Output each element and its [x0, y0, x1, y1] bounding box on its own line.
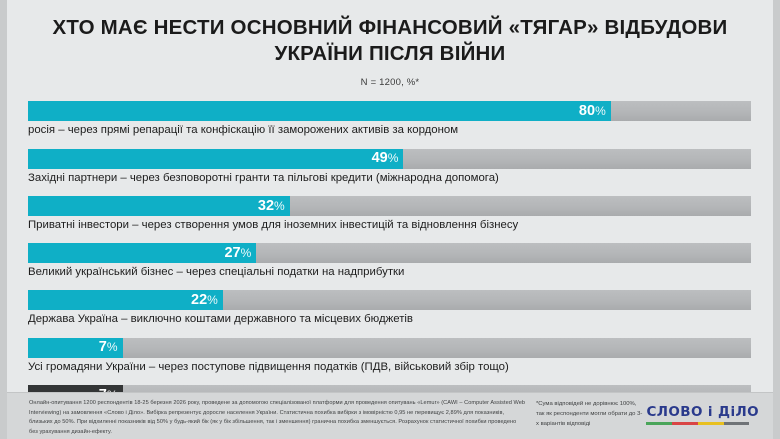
bar-value-label: 7% [99, 340, 118, 355]
percent-symbol: % [207, 293, 218, 307]
percent-symbol: % [595, 104, 606, 118]
header: ХТО МАЄ НЕСТИ ОСНОВНИЙ ФІНАНСОВИЙ «ТЯГАР… [7, 0, 773, 88]
bar-category-label: Західні партнери – через безповоротні гр… [28, 171, 759, 185]
bar-track: 27% [28, 243, 751, 263]
bar-fill[interactable]: 27% [28, 243, 256, 263]
bar-track: 80% [28, 101, 751, 121]
brand-logo[interactable]: СЛОВО і ДіЛО [646, 399, 769, 425]
bar-value-label: 27% [224, 246, 251, 261]
bar-value-label: 22% [191, 293, 218, 308]
bar-value-label: 80% [579, 104, 606, 119]
bar-value-label: 49% [372, 151, 399, 166]
bar-category-label: Держава Україна – виключно коштами держа… [28, 312, 759, 326]
bar-track: 32% [28, 196, 751, 216]
sample-size-label: N = 1200, %* [7, 77, 773, 88]
page-title: ХТО МАЄ НЕСТИ ОСНОВНИЙ ФІНАНСОВИЙ «ТЯГАР… [7, 15, 773, 67]
bar-category-label: Великий український бізнес – через спеці… [28, 265, 759, 279]
bar-category-label: Усі громадяни України – через поступове … [28, 360, 759, 374]
bar-track: 22% [28, 290, 751, 310]
percent-symbol: % [107, 340, 118, 354]
bar-fill[interactable]: 49% [28, 149, 403, 169]
chart-row: 32%Приватні інвестори – через створення … [28, 196, 759, 232]
bar-value-label: 32% [258, 199, 285, 214]
bar-track: 7% [28, 338, 751, 358]
bar-category-label: Приватні інвестори – через створення умо… [28, 218, 759, 232]
bar-fill[interactable]: 22% [28, 290, 223, 310]
footnote-text: *Сума відповідей не дорівнює 100%, так я… [536, 399, 644, 429]
chart-row: 80%росія – через прямі репарації та конф… [28, 101, 759, 137]
bar-fill[interactable]: 80% [28, 101, 611, 121]
percent-symbol: % [274, 199, 285, 213]
bar-track: 49% [28, 149, 751, 169]
bar-category-label: росія – через прямі репарації та конфіск… [28, 123, 759, 137]
footer: Онлайн-опитування 1200 респондентів 18-2… [7, 392, 773, 439]
brand-logo-stripe [646, 422, 749, 425]
brand-logo-text: СЛОВО і ДіЛО [646, 406, 759, 420]
infographic-sheet: ХТО МАЄ НЕСТИ ОСНОВНИЙ ФІНАНСОВИЙ «ТЯГАР… [0, 0, 780, 439]
methodology-text: Онлайн-опитування 1200 респондентів 18-2… [29, 399, 526, 437]
logo-stripe-segment [646, 422, 672, 425]
chart-row: 27%Великий український бізнес – через сп… [28, 243, 759, 279]
percent-symbol: % [241, 246, 252, 260]
logo-stripe-segment [698, 422, 724, 425]
percent-symbol: % [388, 151, 399, 165]
logo-stripe-segment [672, 422, 698, 425]
logo-stripe-segment [724, 422, 750, 425]
chart-row: 49%Західні партнери – через безповоротні… [28, 149, 759, 185]
bar-fill[interactable]: 32% [28, 196, 290, 216]
bar-chart: 80%росія – через прямі репарації та конф… [7, 101, 773, 421]
bar-fill[interactable]: 7% [28, 338, 123, 358]
chart-row: 22%Держава Україна – виключно коштами де… [28, 290, 759, 326]
chart-row: 7%Усі громадяни України – через поступов… [28, 338, 759, 374]
